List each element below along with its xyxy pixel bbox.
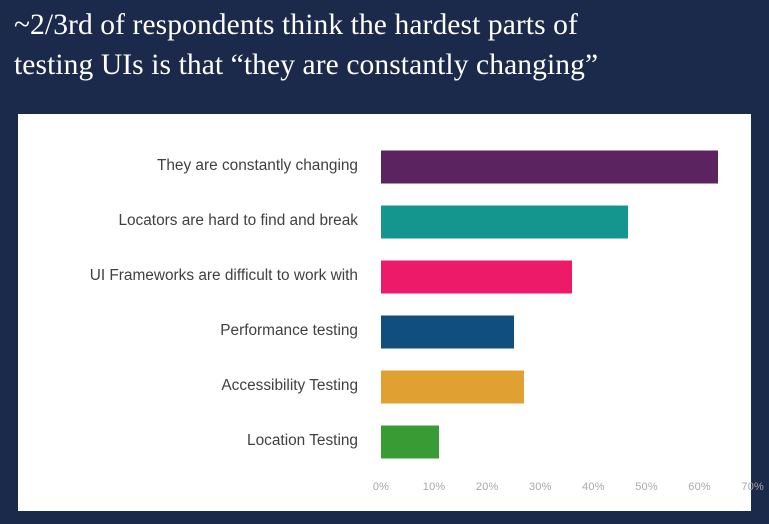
page-title: ~2/3rd of respondents think the hardest … bbox=[14, 6, 762, 86]
bar-row: Location Testing bbox=[18, 414, 751, 469]
bar-track bbox=[363, 139, 751, 194]
bar bbox=[381, 150, 718, 183]
bar bbox=[381, 205, 628, 238]
bar bbox=[381, 260, 572, 293]
headline-line-1: ~2/3rd of respondents think the hardest … bbox=[14, 6, 762, 46]
x-axis-tick-label: 50% bbox=[635, 481, 658, 493]
x-axis-tick-label: 40% bbox=[582, 481, 605, 493]
slide-root: ~2/3rd of respondents think the hardest … bbox=[0, 0, 769, 524]
headline-line-2: testing UIs is that “they are constantly… bbox=[14, 46, 762, 86]
category-label: UI Frameworks are difficult to work with bbox=[28, 266, 358, 287]
x-axis-tick-label: 20% bbox=[476, 481, 499, 493]
bar bbox=[381, 425, 439, 458]
bar bbox=[381, 370, 524, 403]
bar-row: Locators are hard to find and break bbox=[18, 194, 751, 249]
x-axis-tick-label: 30% bbox=[529, 481, 552, 493]
category-label: Performance testing bbox=[28, 321, 358, 342]
x-axis-tick-label: 70% bbox=[741, 481, 764, 493]
bar-chart: 0%10%20%30%40%50%60%70% They are constan… bbox=[18, 114, 751, 511]
bar-row: UI Frameworks are difficult to work with bbox=[18, 249, 751, 304]
category-label: They are constantly changing bbox=[28, 156, 358, 177]
bar-row: Performance testing bbox=[18, 304, 751, 359]
bar bbox=[381, 315, 514, 348]
bar-track bbox=[363, 249, 751, 304]
category-label: Locators are hard to find and break bbox=[28, 211, 358, 232]
category-label: Accessibility Testing bbox=[28, 376, 358, 397]
x-axis: 0%10%20%30%40%50%60%70% bbox=[363, 481, 751, 497]
category-label: Location Testing bbox=[28, 431, 358, 452]
bar-track bbox=[363, 359, 751, 414]
bar-track bbox=[363, 304, 751, 359]
chart-card: 0%10%20%30%40%50%60%70% They are constan… bbox=[18, 114, 751, 511]
bar-track bbox=[363, 194, 751, 249]
bar-row: Accessibility Testing bbox=[18, 359, 751, 414]
x-axis-tick-label: 0% bbox=[373, 481, 389, 493]
x-axis-tick-label: 10% bbox=[423, 481, 446, 493]
x-axis-tick-label: 60% bbox=[688, 481, 711, 493]
bar-track bbox=[363, 414, 751, 469]
bar-row: They are constantly changing bbox=[18, 139, 751, 194]
